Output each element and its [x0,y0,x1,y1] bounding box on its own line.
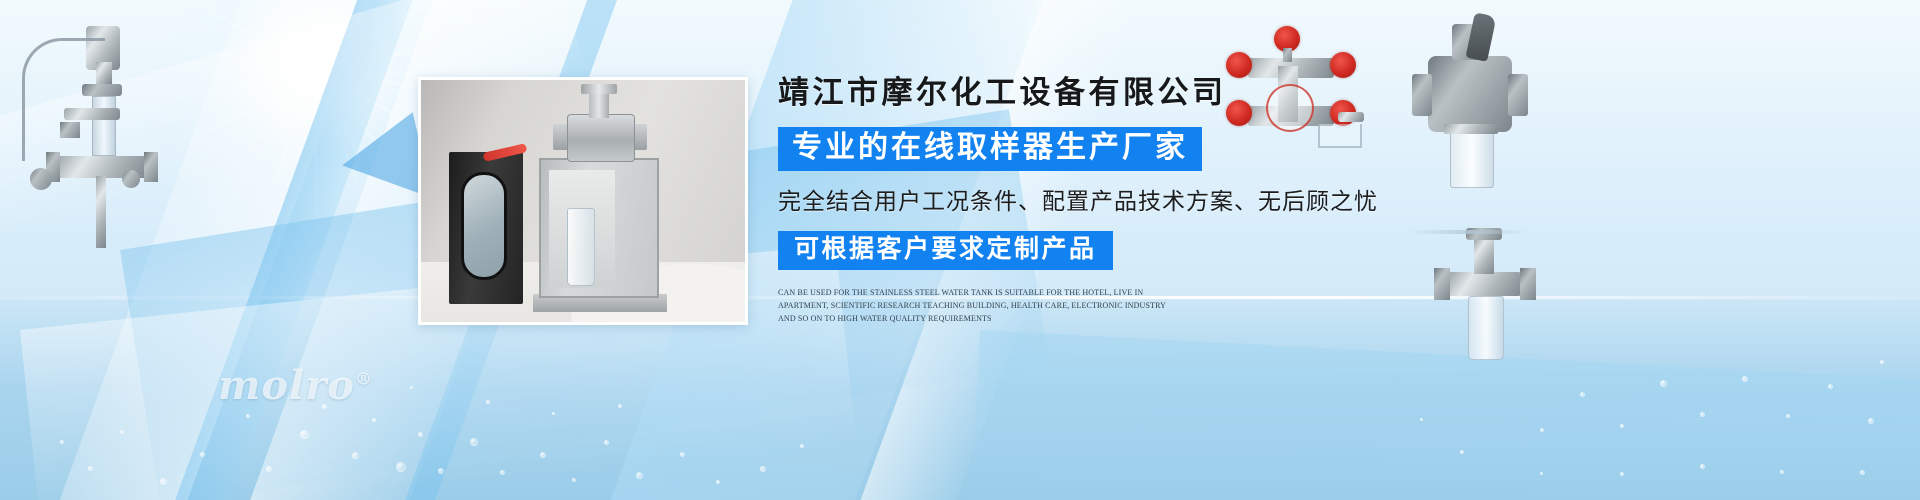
water-droplet-icon [540,452,546,458]
water-droplet-icon [266,466,272,472]
water-droplet-icon [500,470,505,475]
water-droplet-icon [800,444,804,448]
water-droplet-icon [1700,412,1705,417]
water-droplet-icon [636,472,643,479]
water-droplet-icon [410,386,413,389]
photo-sample-bottle [567,208,595,286]
water-droplet-icon [1742,376,1748,382]
photo-valve-cap [581,84,617,94]
water-droplet-icon [1868,418,1874,424]
water-droplet-icon [618,404,622,408]
water-droplet-icon [300,430,309,439]
water-droplet-icon [200,452,205,457]
water-droplet-icon [1700,464,1705,469]
water-droplet-icon [352,452,359,459]
water-droplet-icon [486,400,490,404]
water-droplet-icon [552,412,555,415]
subline-text: 完全结合用户工况条件、配置产品技术方案、无后顾之忧 [778,188,1398,214]
water-droplet-icon [246,414,250,418]
photo-cabinet-interior [549,170,615,288]
water-droplet-icon [1786,414,1790,418]
watermark-logo: molro® [218,362,373,409]
water-droplet-icon [1620,424,1624,428]
photo-cabinet-body [539,158,659,298]
water-droplet-icon [1620,472,1624,476]
water-droplet-icon [88,466,93,471]
watermark-text: molro [218,362,355,409]
photo-door-window [461,172,507,280]
water-droplet-icon [760,466,766,472]
water-droplet-icon [372,418,376,422]
promotional-banner: 靖江市摩尔化工设备有限公司 专业的在线取样器生产厂家 完全结合用户工况条件、配置… [0,0,1920,500]
water-droplet-icon [1580,392,1585,397]
water-droplet-icon [716,480,720,484]
water-droplet-icon [1420,418,1423,421]
english-caption: CAN BE USED FOR THE STAINLESS STEEL WATE… [778,286,1178,326]
water-droplet-icon [1828,384,1833,389]
water-droplet-icon [120,430,124,434]
photo-valve-neck [589,90,609,118]
water-droplet-icon [1660,380,1667,387]
water-droplet-icon [438,468,444,474]
headline-text-block: 靖江市摩尔化工设备有限公司 专业的在线取样器生产厂家 完全结合用户工况条件、配置… [778,78,1398,325]
water-droplet-icon [418,432,423,437]
water-droplet-icon [1540,428,1544,432]
water-droplet-icon [1540,472,1543,475]
sampler-cabinet-photo [418,77,748,325]
photo-cabinet-door [449,152,523,304]
registered-mark-icon: ® [355,370,373,390]
water-droplet-icon [680,452,685,457]
water-droplet-icon [604,440,609,445]
callout-highlight: 可根据客户要求定制产品 [778,231,1113,270]
water-droplet-icon [1860,470,1865,475]
water-droplet-icon [60,440,64,444]
water-droplet-icon [1460,450,1464,454]
water-droplet-icon [1880,360,1884,364]
photo-valve-body [567,114,635,162]
water-droplet-icon [470,438,478,446]
company-name: 靖江市摩尔化工设备有限公司 [778,78,1398,109]
headline-highlight: 专业的在线取样器生产厂家 [778,127,1202,171]
water-droplet-icon [1780,470,1784,474]
water-droplet-icon [572,478,576,482]
water-droplet-icon [160,478,167,485]
water-droplet-icon [396,462,406,472]
